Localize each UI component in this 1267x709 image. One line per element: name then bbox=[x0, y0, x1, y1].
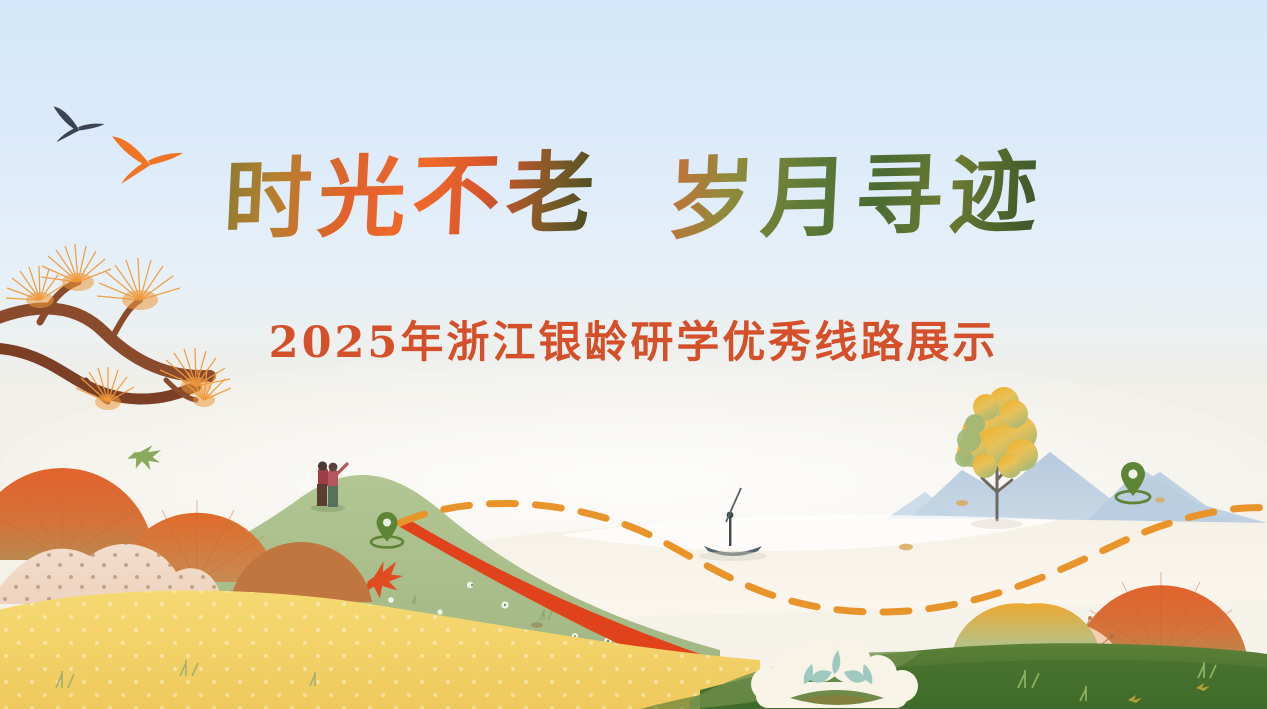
poster-subtitle: 2025年浙江银龄研学优秀线路展示 bbox=[269, 308, 999, 370]
swallow-orange bbox=[103, 136, 184, 195]
swallow-dark bbox=[43, 106, 105, 154]
poster-canvas: 时光不老 岁月寻迹 2025年浙江银龄研学优秀线路展示 bbox=[0, 0, 1267, 709]
poster-subtitle-wrap: 2025年浙江银龄研学优秀线路展示 bbox=[0, 308, 1267, 370]
lotus-cloud-ornament bbox=[751, 638, 918, 708]
